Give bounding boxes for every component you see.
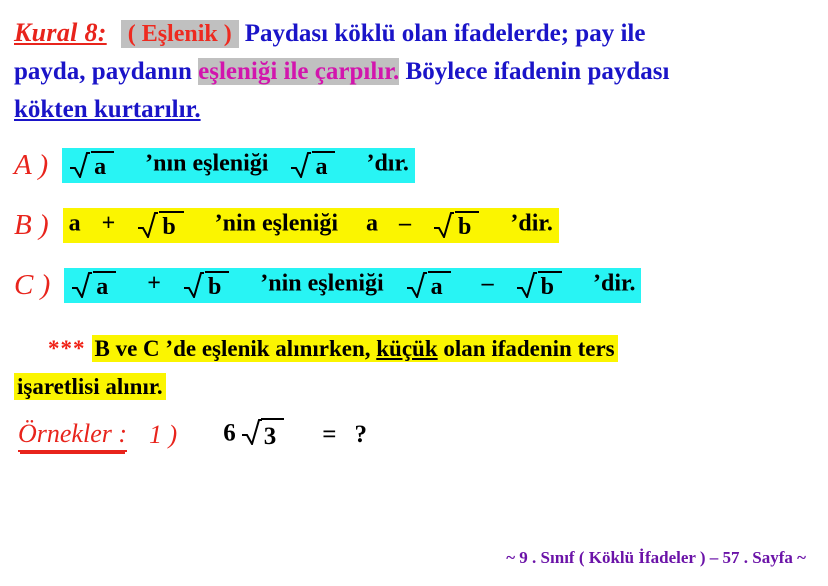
radical-sign-icon [407,272,427,298]
question-mark: ? [354,421,367,449]
example-number: 1 ) [149,420,177,450]
rule-line1-text: Paydası köklü olan ifadelerde; pay ile [245,20,646,47]
item-c-mid-text: ’nin eşleniği [260,271,383,297]
radicand-c1: a [93,271,116,299]
note-underlined-word: küçük [376,336,437,361]
rule-line3-text: kökten kurtarılır. [14,96,201,123]
item-c: C ) a + b ’nin eşleniği [14,268,641,303]
note-line-1: ***B ve C ’de eşlenik alınırken, küçük o… [14,330,814,368]
radical-c2b: b [517,271,570,299]
radical-c2: a [407,271,459,299]
radical-sign-icon [434,212,454,238]
item-c-op2: – [482,271,494,297]
radical-sign-icon [184,272,204,298]
note-block: ***B ve C ’de eşlenik alınırken, küçük o… [14,330,814,406]
eslenik-tag: ( Eşlenik ) [121,20,239,48]
item-c-body: a + b ’nin eşleniği a – [64,268,641,303]
item-b-op1: + [102,211,116,237]
radicand-b2: b [455,211,479,239]
examples-label: Örnekler : [18,419,127,452]
radical-c1b: b [184,271,237,299]
note-line1-wrap: B ve C ’de eşlenik alınırken, küçük olan… [92,335,618,362]
footer-source-note: ~ 9 . Sınıf ( Köklü İfadeler ) – 57 . Sa… [506,548,806,568]
radical-sign-icon [517,272,537,298]
radical-c1: a [72,271,124,299]
note-stars: *** [48,336,86,361]
note-part-2: olan ifadenin ters [443,336,614,361]
radical-sign-icon [138,212,158,238]
radicand-b1: b [159,211,183,239]
item-b-mid-text: ’nin eşleniği [215,211,338,237]
item-a: A ) a ’nın eşleniği a ’dır. [14,148,415,183]
slide-canvas: Kural 8:( Eşlenik )Paydası köklü olan if… [0,0,828,586]
fraction-6-over-root3: 6 3 [223,418,290,452]
radical-denominator: 3 [242,418,289,452]
item-b-body: a + b ’nin eşleniği a – b [63,208,559,243]
item-c-letter: C ) [14,271,50,300]
radical-b1: b [138,211,191,239]
item-b: B ) a + b ’nin eşleniği a – [14,208,559,243]
radicand-a1: a [91,151,114,179]
item-b-lead2: a [366,211,378,237]
item-a-body: a ’nın eşleniği a ’dır. [62,148,415,183]
radical-sign-icon [70,152,90,178]
item-b-letter: B ) [14,211,49,240]
radical-sign-icon [72,272,92,298]
equals-sign: = [322,421,336,449]
item-a-letter: A ) [14,151,48,180]
rule-line-3: kökten kurtarılır. [14,91,814,129]
note-line-2: işaretlisi alınır. [14,368,814,406]
radicand-c2: a [428,271,451,299]
examples-block: Örnekler : 1 ) 6 3 = ? [18,418,367,452]
item-b-end-text: ’dir. [510,211,552,237]
rule-line-2: payda, paydanın eşleniği ile çarpılır. B… [14,53,814,91]
radical-b2: b [434,211,487,239]
radical-a2: a [291,151,343,179]
radicand-denominator: 3 [261,418,285,452]
item-b-lead: a [69,211,81,237]
fraction-denominator: 3 [240,418,291,447]
note-line2-text: işaretlisi alınır. [14,373,166,400]
rule-paragraph: Kural 8:( Eşlenik )Paydası köklü olan if… [14,14,814,129]
radical-sign-icon [242,419,262,445]
item-c-end-text: ’dir. [593,271,635,297]
item-c-op1: + [147,271,161,297]
radical-a1: a [70,151,122,179]
rule-label: Kural 8: [14,18,107,47]
radical-sign-icon [291,152,311,178]
rule-line2-emphasis: eşleniği ile çarpılır. [198,58,399,85]
fraction-numerator: 6 [223,420,236,447]
radicand-c1b: b [205,271,229,299]
item-a-end-text: ’dır. [366,151,408,177]
rule-line2-text-b: Böylece ifadenin paydası [406,58,670,85]
radicand-c2b: b [538,271,562,299]
note-part-1: B ve C ’de eşlenik alınırken, [95,336,371,361]
item-b-op2: – [399,211,411,237]
radicand-a2: a [312,151,335,179]
rule-line-1: Kural 8:( Eşlenik )Paydası köklü olan if… [14,14,814,53]
item-a-mid-text: ’nın eşleniği [145,151,268,177]
rule-line2-text-a: payda, paydanın [14,58,192,85]
